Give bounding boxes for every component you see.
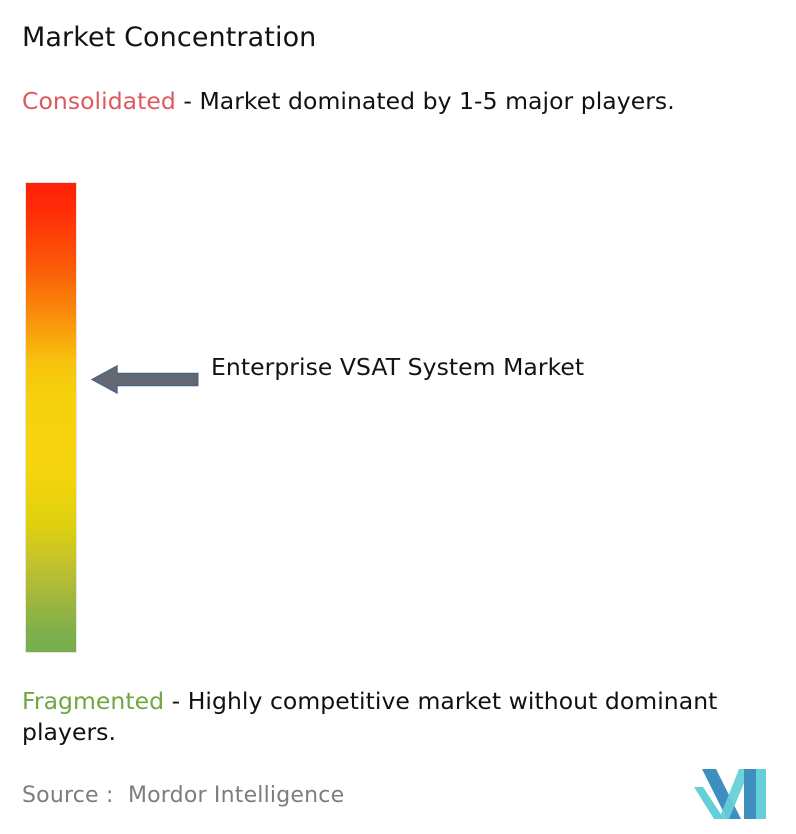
legend-term-consolidated: Consolidated xyxy=(22,87,176,115)
callout-label: Enterprise VSAT System Market xyxy=(211,349,631,385)
source-attribution: Source : Mordor Intelligence xyxy=(22,781,344,811)
mordor-intelligence-logo-icon xyxy=(694,769,766,819)
market-concentration-infographic: Market Concentration Consolidated - Mark… xyxy=(0,0,796,834)
legend-term-fragmented: Fragmented xyxy=(22,687,164,715)
page-title: Market Concentration xyxy=(22,20,316,56)
concentration-gradient-bar xyxy=(25,182,77,653)
legend-fragmented: Fragmented - Highly competitive market w… xyxy=(22,686,790,748)
left-arrow-icon xyxy=(91,363,199,396)
legend-consolidated: Consolidated - Market dominated by 1-5 m… xyxy=(22,86,782,117)
legend-description-consolidated: - Market dominated by 1-5 major players. xyxy=(176,87,675,115)
